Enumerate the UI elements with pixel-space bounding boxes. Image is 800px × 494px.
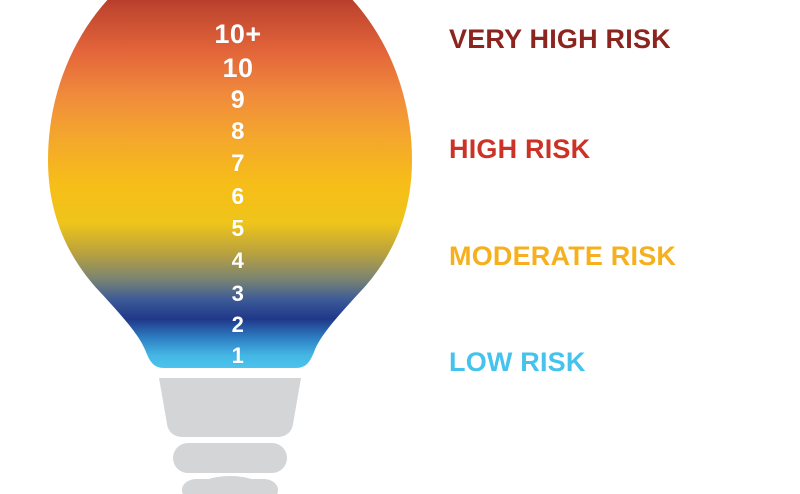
bulb-base-foot: [193, 476, 267, 494]
bulb-base-ring: [173, 443, 287, 473]
risk-level-legend: VERY HIGH RISK HIGH RISK MODERATE RISK L…: [449, 0, 789, 420]
bulb-base-collar: [159, 378, 301, 437]
risk-scale-infographic: 10+ 10 9 8 7 6 5 4 3 2 1 VERY HIGH RISK …: [0, 0, 800, 494]
risk-label-high: HIGH RISK: [449, 136, 590, 163]
risk-label-low: LOW RISK: [449, 349, 586, 376]
risk-label-moderate: MODERATE RISK: [449, 243, 676, 270]
lightbulb-graphic: [0, 0, 460, 494]
bulb-glass: [48, 0, 412, 368]
risk-label-very-high: VERY HIGH RISK: [449, 26, 671, 53]
